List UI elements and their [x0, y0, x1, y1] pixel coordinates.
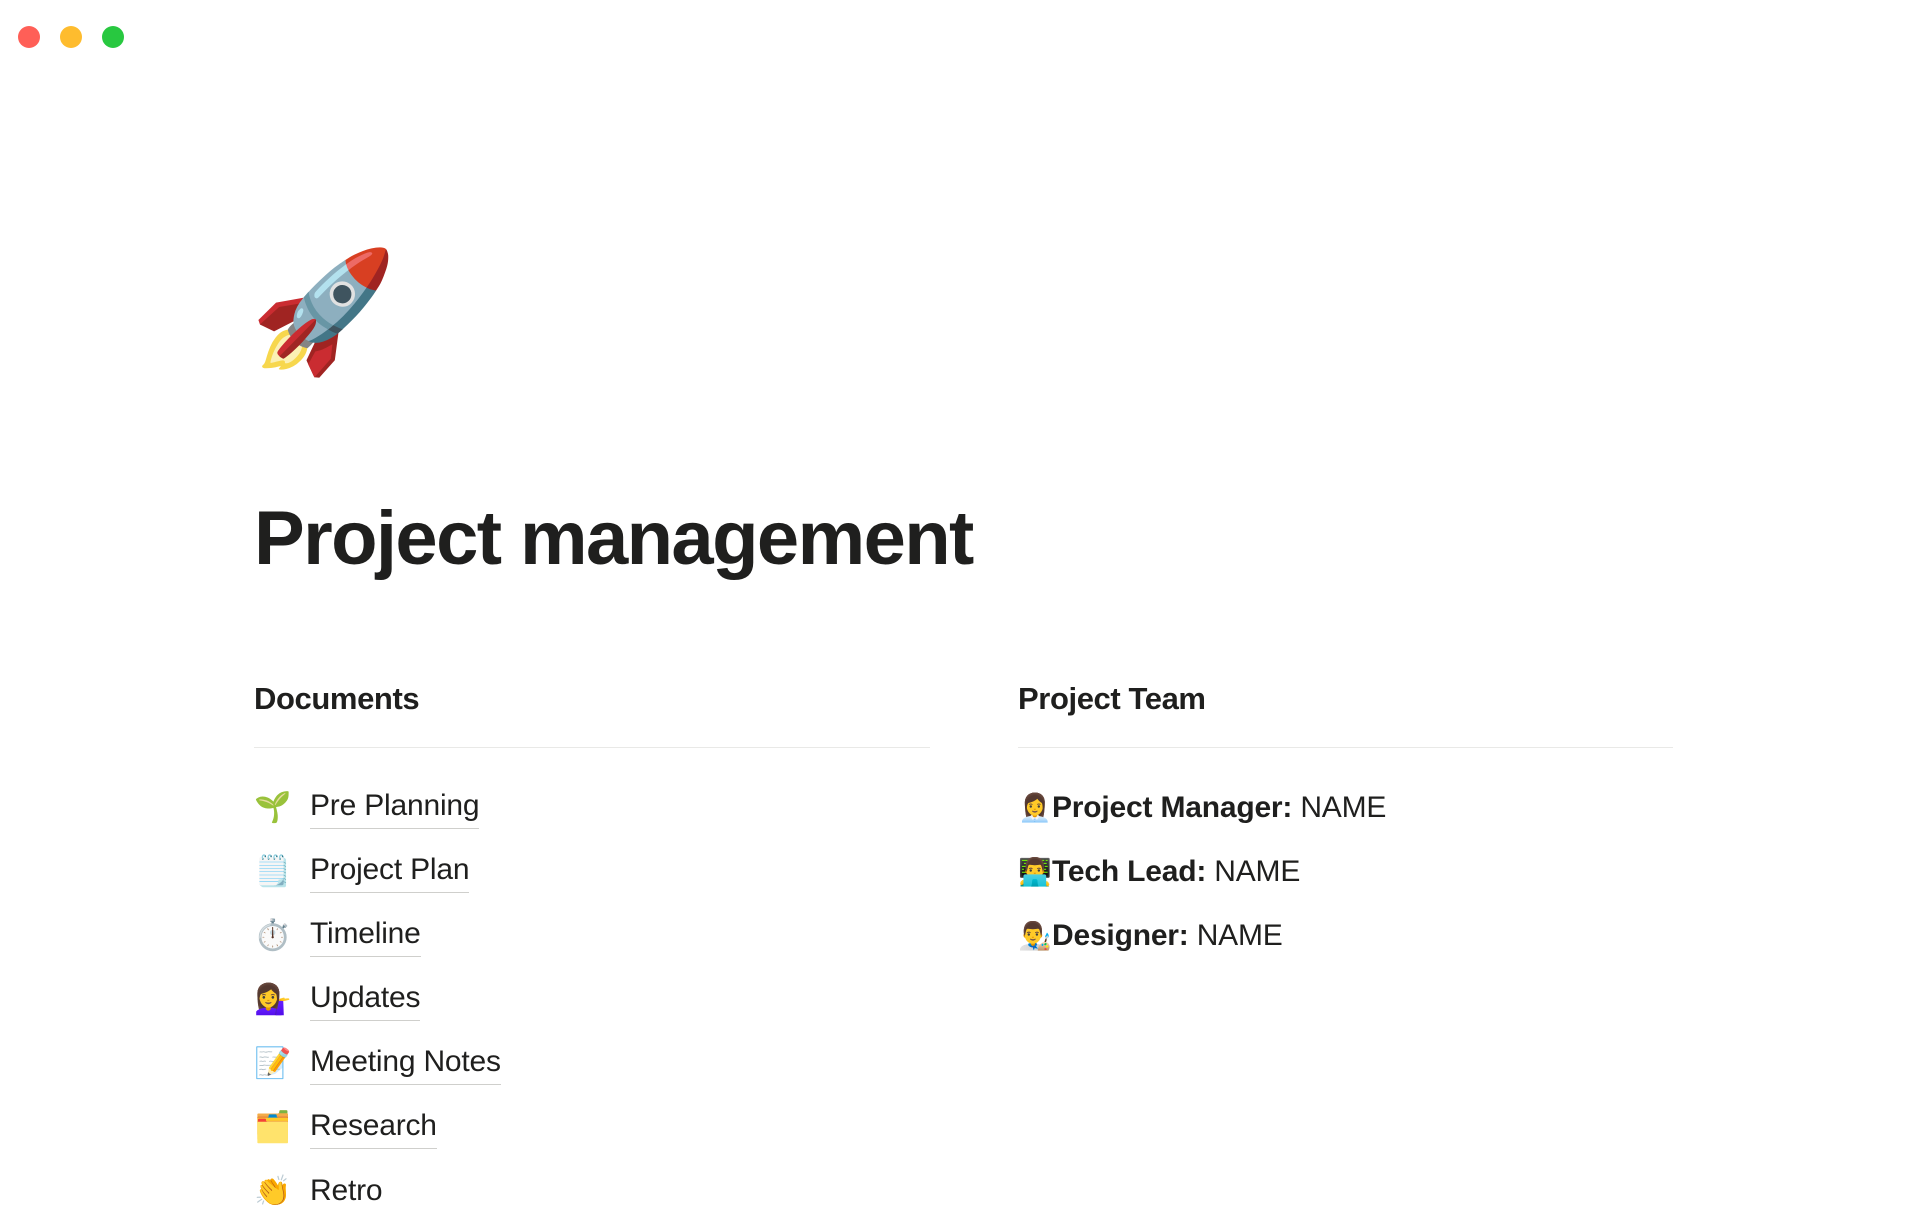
team-member-project-manager: Project Manager: NAME [1052, 789, 1386, 827]
list-item[interactable]: 📝 Meeting Notes [254, 1032, 930, 1096]
seedling-icon: 🌱 [254, 793, 310, 823]
team-role-label: Project Manager: [1052, 791, 1292, 824]
technologist-icon: 👨‍💻 [1018, 859, 1052, 886]
artist-icon: 👨‍🎨 [1018, 923, 1052, 950]
document-link-retro[interactable]: Retro [310, 1172, 382, 1213]
list-item[interactable]: 🗒️ Project Plan [254, 840, 930, 904]
list-item[interactable]: 👏 Retro [254, 1160, 930, 1224]
team-member-tech-lead: Tech Lead: NAME [1052, 853, 1300, 891]
document-link-timeline[interactable]: Timeline [310, 915, 421, 957]
list-item: 👩‍💼 Project Manager: NAME [1018, 776, 1673, 840]
memo-icon: 📝 [254, 1049, 310, 1079]
list-item[interactable]: 💁‍♀️ Updates [254, 968, 930, 1032]
documents-heading: Documents [254, 680, 930, 717]
team-member-name: NAME [1300, 791, 1386, 824]
list-item: 👨‍💻 Tech Lead: NAME [1018, 840, 1673, 904]
team-role-label: Designer: [1052, 919, 1189, 952]
document-link-research[interactable]: Research [310, 1107, 437, 1149]
documents-column: Documents 🌱 Pre Planning 🗒️ Project Plan… [254, 680, 930, 1224]
page-title[interactable]: Project management [254, 497, 973, 581]
document-link-pre-planning[interactable]: Pre Planning [310, 787, 479, 829]
list-item: 👨‍🎨 Designer: NAME [1018, 904, 1673, 968]
clapping-hands-icon: 👏 [254, 1177, 310, 1207]
office-worker-icon: 👩‍💼 [1018, 795, 1052, 822]
person-tipping-hand-icon: 💁‍♀️ [254, 985, 310, 1015]
document-link-updates[interactable]: Updates [310, 979, 420, 1021]
project-team-divider [1018, 747, 1673, 748]
card-index-dividers-icon: 🗂️ [254, 1113, 310, 1143]
team-member-designer: Designer: NAME [1052, 917, 1283, 955]
document-link-project-plan[interactable]: Project Plan [310, 851, 469, 893]
list-item[interactable]: ⏱️ Timeline [254, 904, 930, 968]
team-member-name: NAME [1214, 855, 1300, 888]
team-member-name: NAME [1197, 919, 1283, 952]
project-team-column: Project Team 👩‍💼 Project Manager: NAME 👨… [1018, 680, 1673, 1224]
documents-divider [254, 747, 930, 748]
content-columns: Documents 🌱 Pre Planning 🗒️ Project Plan… [0, 680, 1920, 1224]
project-team-heading: Project Team [1018, 680, 1673, 717]
list-item[interactable]: 🌱 Pre Planning [254, 776, 930, 840]
rocket-icon[interactable]: 🚀 [250, 252, 397, 370]
document-link-meeting-notes[interactable]: Meeting Notes [310, 1043, 501, 1085]
spiral-notepad-icon: 🗒️ [254, 857, 310, 887]
team-role-label: Tech Lead: [1052, 855, 1206, 888]
stopwatch-icon: ⏱️ [254, 921, 310, 951]
list-item[interactable]: 🗂️ Research [254, 1096, 930, 1160]
page-content: 🚀 Project management Documents 🌱 Pre Pla… [0, 0, 1920, 1200]
